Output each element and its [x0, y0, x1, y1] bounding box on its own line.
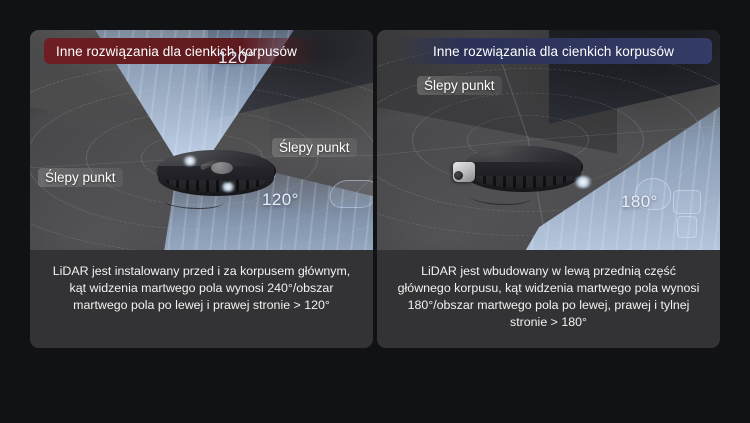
illustration-left: Inne rozwiązania dla cienkich korpusów Ś…	[30, 30, 373, 250]
blind-spot-label-right: Ślepy punkt	[272, 138, 357, 157]
panel-caption-left: LiDAR jest instalowany przed i za korpus…	[30, 250, 373, 348]
comparison-panel-left[interactable]: Inne rozwiązania dla cienkich korpusów Ś…	[30, 30, 373, 348]
panel-badge-left: Inne rozwiązania dla cienkich korpusów	[44, 38, 320, 64]
comparison-panels: Inne rozwiązania dla cienkich korpusów Ś…	[30, 30, 720, 348]
angle-label-bottom: 120°	[262, 190, 299, 210]
angle-label-top: 120°	[218, 48, 255, 68]
lidar-emitter-glow	[573, 176, 593, 188]
robot-lidar-turret	[453, 162, 475, 182]
lidar-emitter-glow	[220, 182, 236, 192]
angle-label-bottom-right: 180°	[621, 192, 658, 212]
blind-spot-label-top-left: Ślepy punkt	[417, 76, 502, 95]
panel-badge-right: Inne rozwiązania dla cienkich korpusów	[395, 38, 712, 64]
panel-caption-right: LiDAR jest wbudowany w lewą przednią czę…	[377, 250, 720, 348]
furniture-ghost	[673, 190, 701, 214]
illustration-right: Inne rozwiązania dla cienkich korpusów Ś…	[377, 30, 720, 250]
blind-spot-label-left: Ślepy punkt	[38, 168, 123, 187]
robot-vacuum-turret-icon	[463, 146, 583, 198]
lidar-emitter-glow	[182, 156, 198, 166]
screenshot-canvas: Inne rozwiązania dla cienkich korpusów Ś…	[0, 0, 750, 423]
robot-vacuum-icon	[156, 150, 276, 202]
furniture-ghost	[677, 216, 697, 238]
comparison-panel-right[interactable]: Inne rozwiązania dla cienkich korpusów Ś…	[377, 30, 720, 348]
